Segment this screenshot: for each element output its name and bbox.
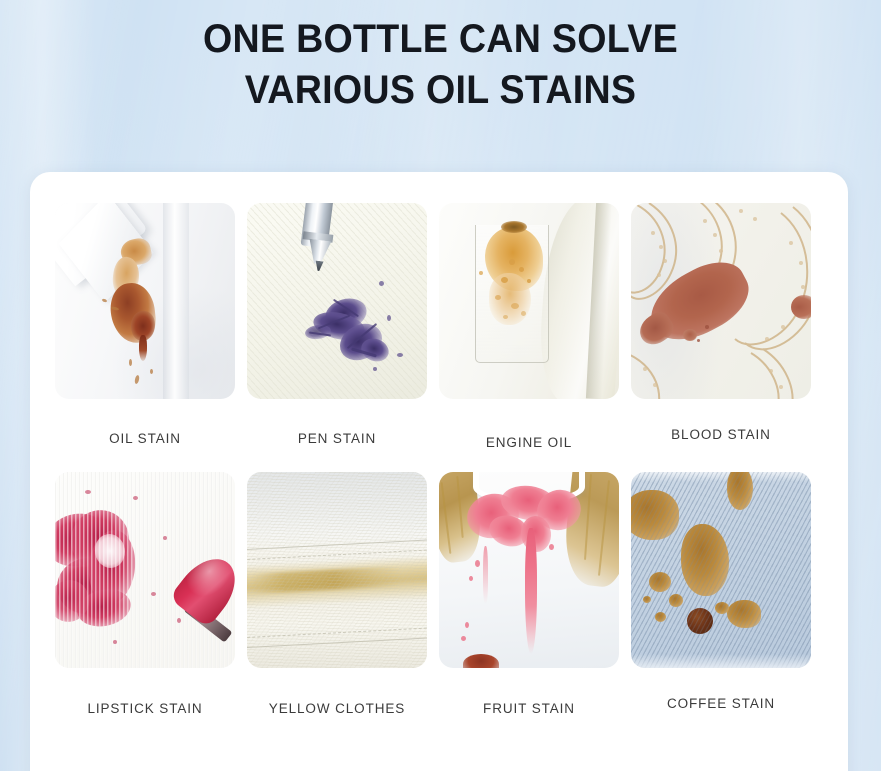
engine-oil-photo [439,203,619,399]
ink-speck [379,281,384,286]
ink-speck [373,367,377,371]
blood-stain-fleck [697,339,700,342]
blood-stain-fleck [705,325,709,329]
oil-stain-fleck [129,359,132,366]
engine-oil-splatter-dark [501,221,527,233]
lipstick-speck [177,618,181,623]
engine-oil-droplet [503,315,508,319]
engine-oil-droplet [495,295,501,300]
stain-label: OIL STAIN [55,431,235,446]
engine-oil-droplet [521,311,526,316]
engine-oil-droplet [527,279,531,283]
fruit-pulp-piece [463,654,499,668]
stain-item-yellow-clothes[interactable]: YELLOW CLOTHES [247,472,427,716]
engine-oil-droplet [511,303,519,309]
yellow-clothes-photo [247,472,427,668]
pen-stain-photo [247,203,427,399]
fruit-juice-droplet [465,622,469,628]
fruit-juice-droplet [475,560,480,567]
stain-item-fruit-stain[interactable]: FRUIT STAIN [439,472,619,716]
stain-label: BLOOD STAIN [631,427,811,442]
fruit-juice-drip-main [525,528,537,654]
stain-label: YELLOW CLOTHES [247,701,427,716]
shirt-placket-shape [163,203,189,399]
stain-row-2: LIPSTICK STAIN YELLOW CLOTHES [55,472,823,716]
coffee-splatter [727,600,761,628]
fruit-juice-drip-side [483,546,488,604]
denim-bottom-edge [631,654,811,668]
engine-oil-droplet [509,259,515,265]
coffee-dark-droplet [687,608,713,634]
coffee-splatter [649,572,671,592]
stain-label: LIPSTICK STAIN [55,701,235,716]
stain-gallery-card: OIL STAIN [30,172,848,771]
stain-label: PEN STAIN [247,431,427,446]
engine-oil-droplet [479,271,483,275]
stain-label: FRUIT STAIN [439,701,619,716]
oil-stain-drip [139,335,147,361]
page-title-line-1: ONE BOTTLE CAN SOLVE [26,14,854,65]
lipstick-speck [151,592,156,596]
oil-stain-fleck [150,369,153,374]
lipstick-speck [113,640,117,644]
oil-stain-fleck [102,298,108,303]
stain-item-pen-stain[interactable]: PEN STAIN [247,203,427,450]
fruit-juice-droplet [469,576,473,581]
engine-oil-droplet [519,267,524,272]
blood-stain-photo [631,203,811,399]
stain-item-coffee-stain[interactable]: COFFEE STAIN [631,472,811,716]
lipstick-bullet-shape [169,547,235,628]
lipstick-stain-photo [55,472,235,668]
oil-stain-photo [55,203,235,399]
stain-item-blood-stain[interactable]: BLOOD STAIN [631,203,811,450]
fruit-juice-droplet [461,636,466,641]
ink-speck [397,353,403,357]
page-title-line-2: VARIOUS OIL STAINS [26,65,854,116]
coffee-splatter [631,490,679,540]
engine-oil-droplet [501,277,508,283]
lipstick-speck [133,496,138,500]
stain-row-1: OIL STAIN [55,203,823,450]
ink-speck [387,315,391,321]
stain-item-engine-oil[interactable]: ENGINE OIL [439,203,619,450]
oil-stain-fleck [134,375,140,385]
fruit-juice-droplet [549,544,554,550]
fabric-twill-texture [247,472,427,668]
blood-stain-droplet [683,329,697,341]
stain-label: ENGINE OIL [439,435,619,450]
coffee-splatter [669,594,683,607]
stain-label: COFFEE STAIN [631,696,811,711]
stain-item-lipstick-stain[interactable]: LIPSTICK STAIN [55,472,235,716]
coffee-splatter [643,596,651,603]
page-title: ONE BOTTLE CAN SOLVE VARIOUS OIL STAINS [26,14,854,116]
coffee-splatter [715,602,729,614]
coffee-stain-photo [631,472,811,668]
coffee-splatter [655,612,666,622]
fruit-stain-photo [439,472,619,668]
blood-stain-edge-blot [791,295,811,319]
coffee-splatter [727,472,753,510]
lipstick-speck [163,536,167,540]
stain-item-oil-stain[interactable]: OIL STAIN [55,203,235,450]
denim-top-edge [631,472,811,482]
lipstick-speck [85,490,91,494]
coffee-splatter [681,524,729,596]
